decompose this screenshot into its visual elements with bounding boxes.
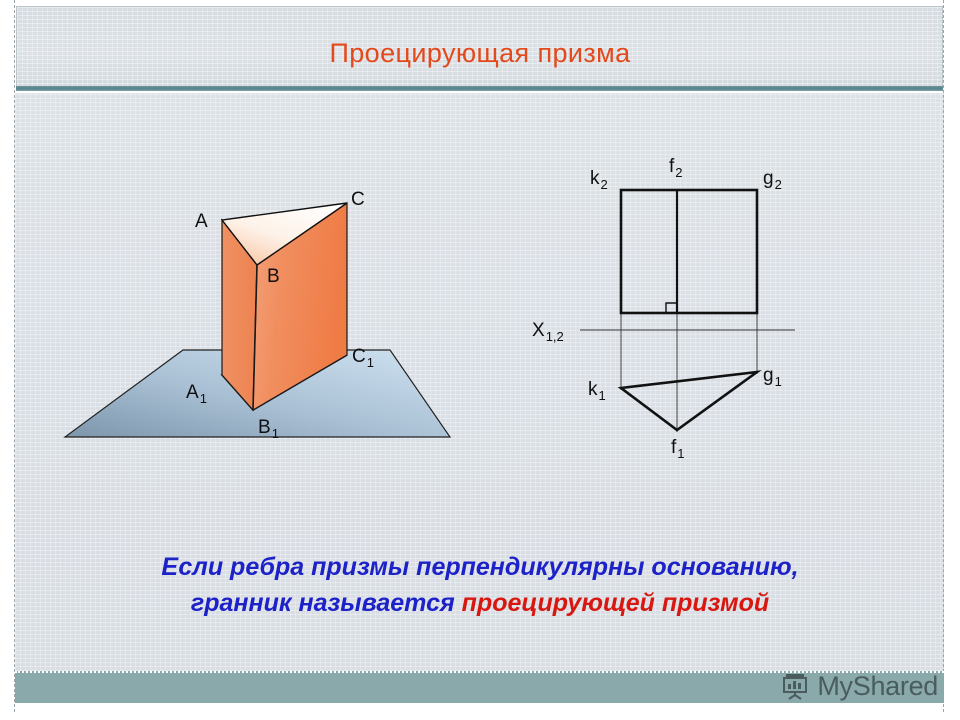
title-divider-highlight [16, 91, 943, 93]
caption-block: Если ребра призмы перпендикулярны основа… [0, 549, 960, 621]
label-f1: f1 [671, 437, 685, 461]
myshared-watermark: MyShared [780, 666, 938, 706]
watermark-label: MyShared [817, 671, 938, 702]
label-f2: f2 [669, 156, 683, 180]
label-A: A [195, 211, 208, 232]
presentation-screen-icon [780, 671, 810, 701]
orthographic-figure: X1,2 k2 f2 g2 k1 g1 f1 [510, 140, 850, 470]
prism-pictorial-figure: A B C A1 B1 C1 [55, 165, 475, 465]
label-k2: k2 [590, 168, 608, 192]
label-B: B [267, 266, 280, 287]
right-angle-marker [666, 303, 677, 313]
label-C: C [351, 189, 365, 210]
caption-line-1: Если ребра призмы перпендикулярны основа… [0, 549, 960, 585]
horizontal-projection-triangle [621, 372, 757, 430]
frontal-projection-rect [621, 190, 757, 313]
label-k1: k1 [588, 379, 606, 403]
label-g2: g2 [763, 168, 782, 192]
caption-line-2-plain: гранник называется [191, 589, 455, 617]
slide: Проецирующая призма [0, 0, 960, 720]
caption-line-2: гранник называется проецирующей призмой [0, 585, 960, 621]
label-X12: X1,2 [532, 320, 564, 344]
page-title: Проецирующая призма [0, 38, 960, 69]
label-g1: g1 [763, 365, 782, 389]
caption-line-2-highlight: проецирующей призмой [462, 589, 769, 617]
